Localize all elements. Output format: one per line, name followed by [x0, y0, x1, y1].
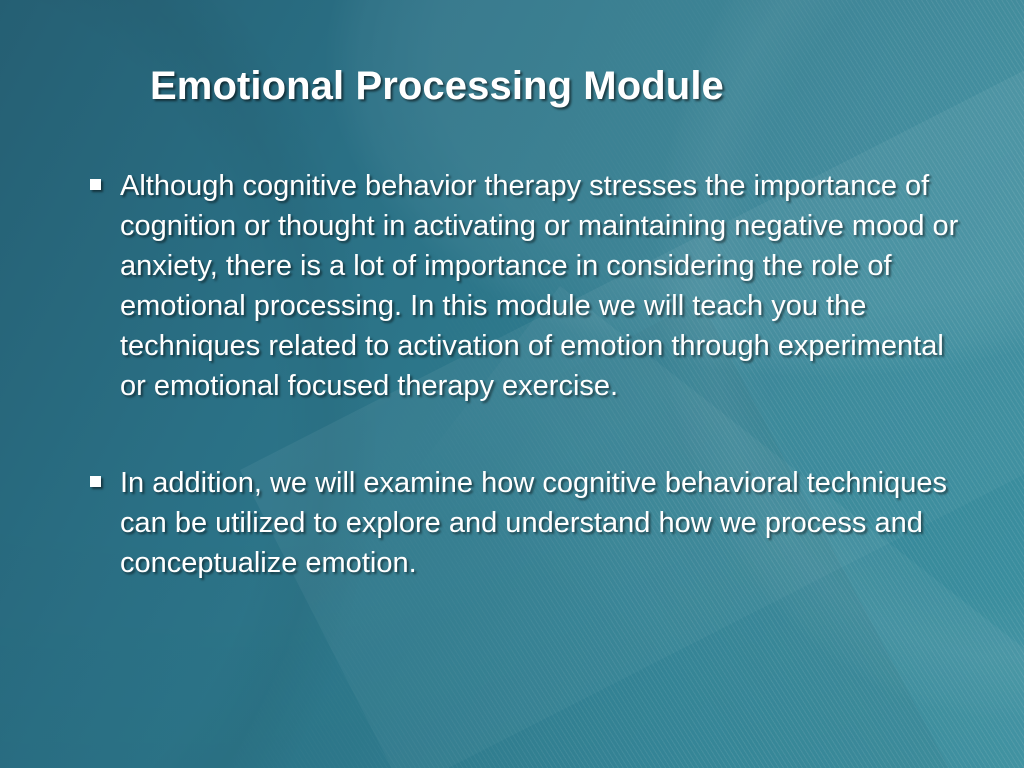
square-bullet-icon — [90, 476, 101, 487]
list-item: In addition, we will examine how cogniti… — [86, 463, 966, 583]
presentation-slide: Emotional Processing Module Although cog… — [0, 0, 1024, 768]
list-item: Although cognitive behavior therapy stre… — [86, 166, 966, 406]
square-bullet-icon — [90, 179, 101, 190]
bullet-list: Although cognitive behavior therapy stre… — [86, 166, 966, 583]
bullet-paragraph: In addition, we will examine how cogniti… — [120, 463, 960, 583]
bullet-paragraph: Although cognitive behavior therapy stre… — [120, 166, 965, 406]
slide-content: Emotional Processing Module Although cog… — [0, 0, 1024, 768]
slide-title: Emotional Processing Module — [150, 64, 950, 109]
